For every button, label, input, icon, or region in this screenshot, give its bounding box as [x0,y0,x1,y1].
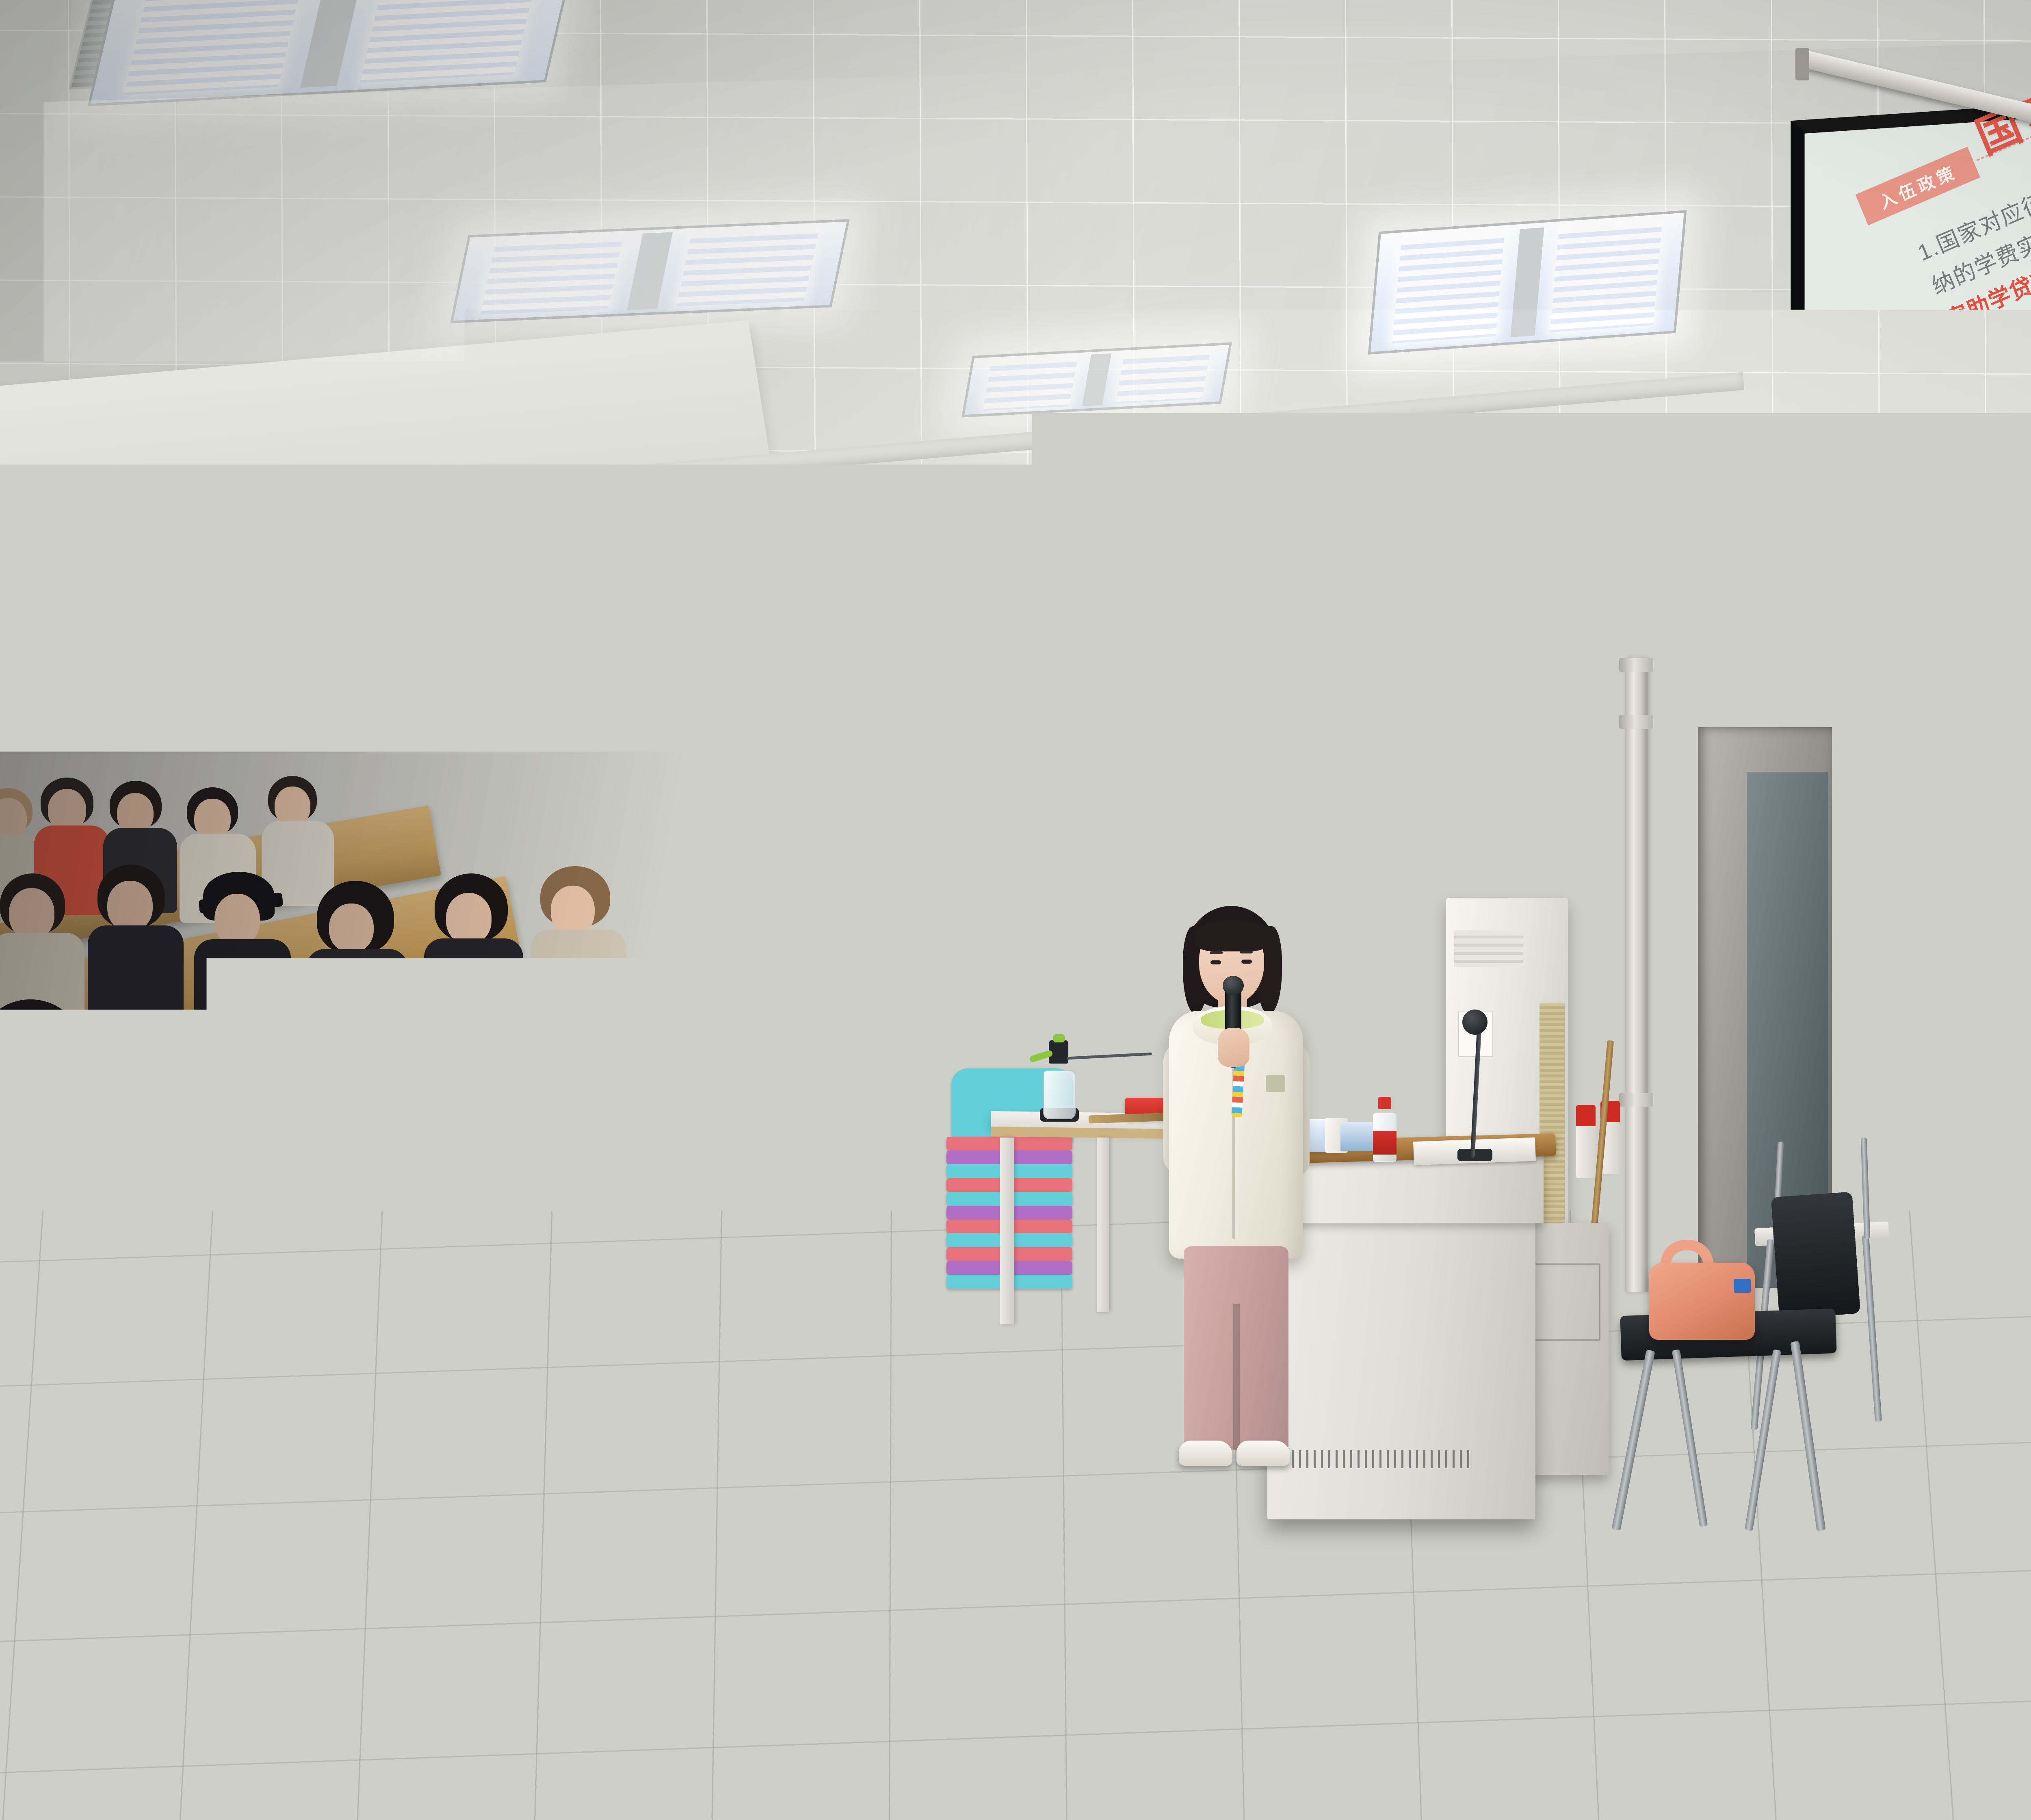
tote-bag[interactable] [1649,1263,1755,1340]
side-table-leg-mid [1097,1137,1109,1312]
slide-section-tab: 入伍政策 [1856,147,1980,225]
seat-foot-5 [654,1397,699,1413]
bottle-cap-icon [1378,1097,1391,1109]
presenter-hand [1218,1028,1249,1067]
seat-foot-4 [496,1438,540,1454]
sprayer-knob-icon [1053,1034,1065,1042]
presenter-jacket-patch [1266,1075,1285,1092]
ac-vent-panel [1454,930,1523,967]
pipe-collar-low [1619,1093,1653,1107]
screen-roller-bracket [1795,48,1809,80]
presenter-bangs [1194,920,1270,951]
folding-chair-backrest [1771,1192,1860,1319]
wall-speaker [1641,448,1735,546]
seat-foot-2 [154,1519,199,1535]
presenter-shoe-right [1236,1441,1290,1466]
seat-foot-1 [0,1556,28,1571]
water-bottle[interactable] [1373,1097,1397,1162]
pipe-collar-mid [1619,715,1653,729]
pressure-sprayer[interactable] [1040,1040,1079,1119]
presenter-shoe-left [1179,1441,1232,1466]
presenter[interactable] [1150,906,1324,1483]
speaker-cone-icon [1647,476,1683,522]
side-table-leg-left [1000,1137,1014,1324]
pipe-collar-top [1619,658,1653,672]
fire-extinguisher-1[interactable] [1576,1105,1596,1178]
bag-label-tag [1734,1279,1751,1293]
speaker-mount-bracket [1656,535,1710,566]
vertical-pipe [1625,658,1648,1292]
seat-foot-3 [329,1479,374,1494]
lecture-hall-scene: 入伍政策 国家政策 1.国家对应征入伍服义务兵役的高校学生，在入伍时对其在校期间… [0,0,2031,1820]
handheld-microphone-head-icon [1223,976,1244,995]
gooseneck-microphone-head-icon [1462,1010,1488,1035]
presenter-leg-seam [1233,1304,1240,1450]
